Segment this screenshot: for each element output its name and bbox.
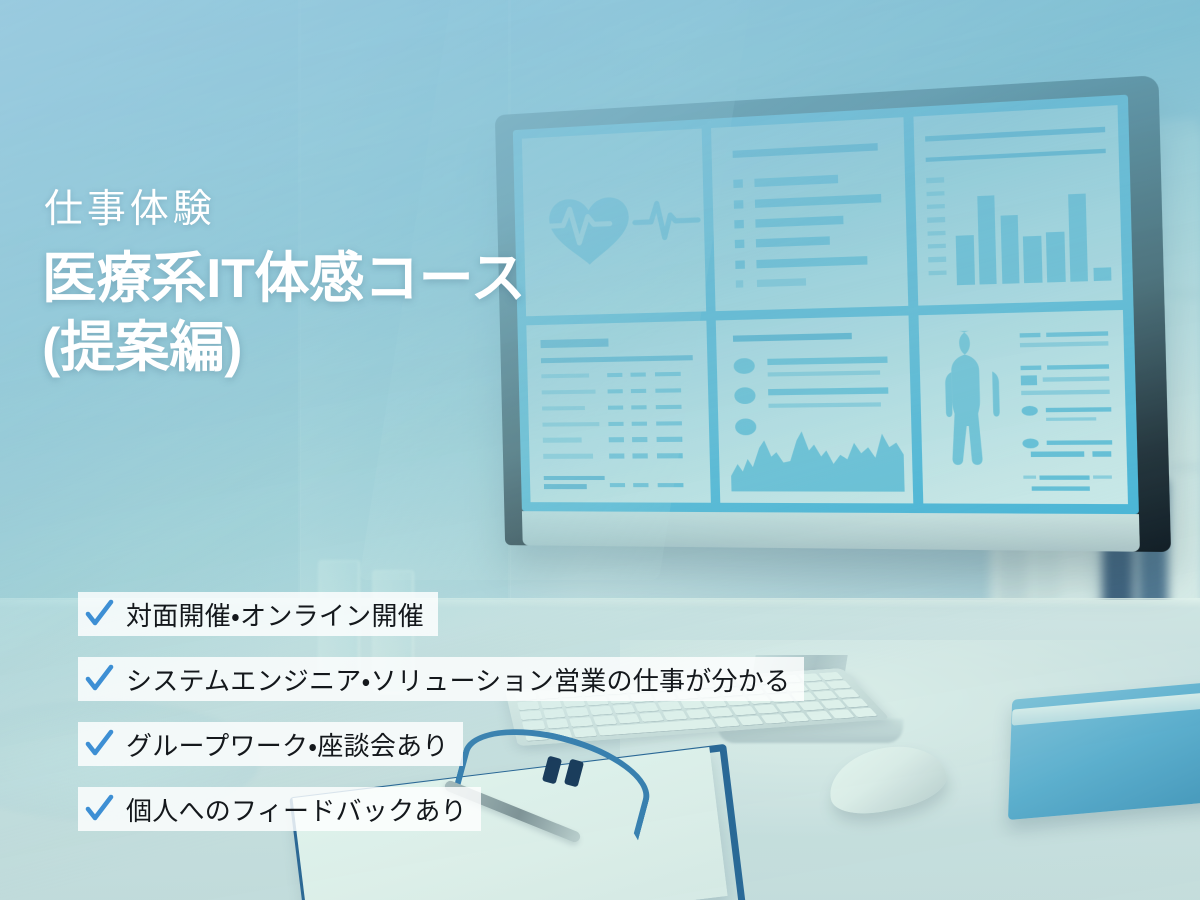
check-icon: [78, 592, 120, 636]
list-item: 個人へのフィードバックあり: [78, 787, 804, 831]
title-line-1: 医療系IT体感コース: [42, 247, 525, 309]
check-icon: [78, 657, 120, 701]
page-title: 医療系IT体感コース (提案編): [42, 244, 642, 383]
checklist-item-label: 対面開催・オンライン開催: [120, 592, 438, 636]
list-item: システムエンジニア・ソリューション営業の仕事が分かる: [78, 657, 804, 701]
title-line-2: (提案編): [42, 313, 642, 382]
checklist-item-label: グループワーク・座談会あり: [120, 722, 463, 766]
list-item: グループワーク・座談会あり: [78, 722, 804, 766]
poster-content: 仕事体験 医療系IT体感コース (提案編) 対面開催・オンライン開催: [0, 0, 1200, 900]
eyebrow-label: 仕事体験: [44, 178, 216, 234]
checklist-item-label: システムエンジニア・ソリューション営業の仕事が分かる: [120, 657, 804, 701]
check-icon: [78, 722, 120, 766]
feature-checklist: 対面開催・オンライン開催 システムエンジニア・ソリューション営業の仕事が分かる …: [78, 592, 804, 831]
check-icon: [78, 787, 120, 831]
list-item: 対面開催・オンライン開催: [78, 592, 804, 636]
checklist-item-label: 個人へのフィードバックあり: [120, 787, 481, 831]
poster-canvas: 仕事体験 医療系IT体感コース (提案編) 対面開催・オンライン開催: [0, 0, 1200, 900]
